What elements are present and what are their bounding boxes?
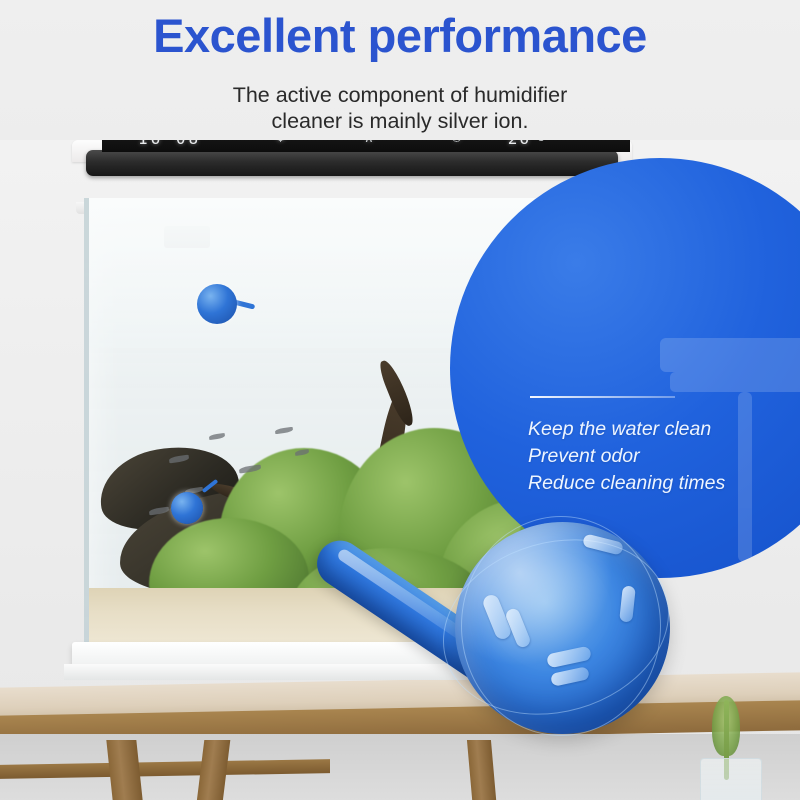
page-title: Excellent performance bbox=[0, 8, 800, 63]
temperature-unit: °C bbox=[534, 140, 544, 143]
benefit-item-1: Keep the water clean bbox=[528, 416, 800, 443]
callout-divider bbox=[530, 396, 675, 398]
product-scene: 16 08 ❄ ∧ ⏱ 26 °C bbox=[0, 140, 800, 800]
benefit-item-3: Reduce cleaning times bbox=[528, 470, 800, 497]
mini-cleaner-ball bbox=[197, 284, 237, 324]
benefits-list: Keep the water clean Prevent odor Reduce… bbox=[528, 416, 800, 497]
subtitle-line-2: cleaner is mainly silver ion. bbox=[0, 108, 800, 134]
clock-display: 16 08 bbox=[138, 140, 201, 148]
temperature-value: 26 bbox=[508, 140, 531, 148]
product-banner: Excellent performance The active compone… bbox=[0, 0, 800, 800]
glass-vase bbox=[700, 758, 762, 800]
page-subtitle: The active component of humidifier clean… bbox=[0, 82, 800, 134]
fish bbox=[275, 427, 294, 434]
mini-cleaner-ball bbox=[171, 492, 203, 524]
fish bbox=[209, 433, 226, 440]
control-panel: 16 08 ❄ ∧ ⏱ 26 °C bbox=[86, 140, 614, 152]
wave-icon[interactable]: ∧ bbox=[364, 140, 374, 146]
product-ball bbox=[455, 522, 670, 734]
tank-control-bar: 16 08 ❄ ∧ ⏱ 26 °C bbox=[86, 150, 618, 176]
subtitle-line-1: The active component of humidifier bbox=[0, 82, 800, 108]
benefit-item-2: Prevent odor bbox=[528, 443, 800, 470]
ball-seam bbox=[422, 514, 690, 741]
droplet-icon[interactable]: ❄ bbox=[275, 140, 286, 146]
timer-icon[interactable]: ⏱ bbox=[452, 140, 462, 146]
product-cleaner-ball bbox=[455, 522, 685, 772]
